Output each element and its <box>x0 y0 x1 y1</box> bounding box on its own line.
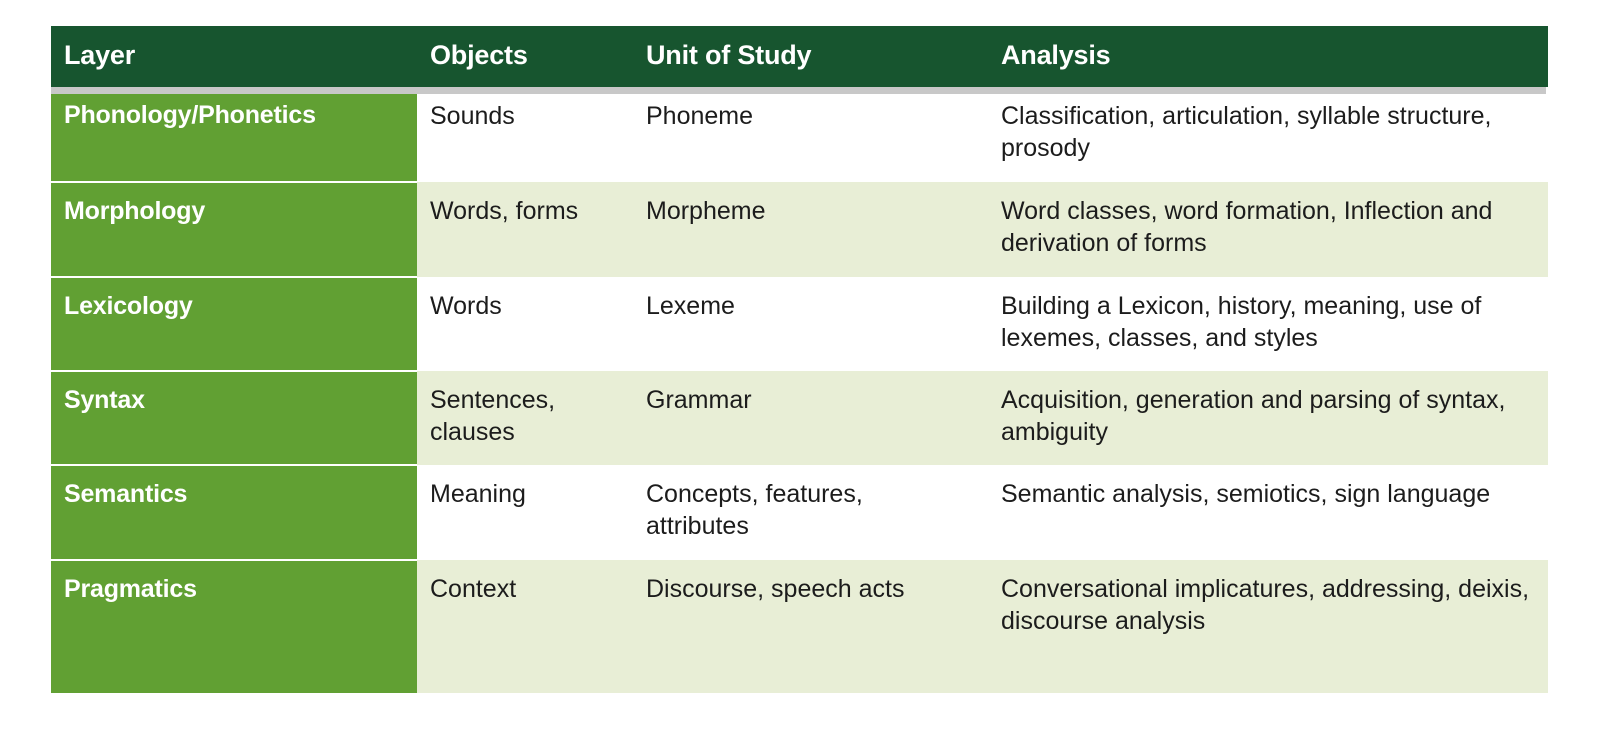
cell-unit-of-study: Grammar <box>633 371 988 465</box>
table-row: Lexicology Words Lexeme Building a Lexic… <box>51 277 1548 371</box>
table-header: Layer Objects Unit of Study Analysis <box>51 26 1548 87</box>
column-header-objects: Objects <box>417 26 633 87</box>
cell-analysis: Semantic analysis, semiotics, sign langu… <box>988 465 1548 560</box>
table-row: Morphology Words, forms Morpheme Word cl… <box>51 182 1548 277</box>
cell-objects: Sentences, clauses <box>417 371 633 465</box>
cell-layer: Phonology/Phonetics <box>51 87 417 182</box>
cell-objects: Context <box>417 560 633 693</box>
cell-objects: Meaning <box>417 465 633 560</box>
cell-unit-of-study: Phoneme <box>633 87 988 182</box>
table-row: Pragmatics Context Discourse, speech act… <box>51 560 1548 693</box>
table-row: Semantics Meaning Concepts, features, at… <box>51 465 1548 560</box>
column-header-layer: Layer <box>51 26 417 87</box>
cell-analysis: Conversational implicatures, addressing,… <box>988 560 1548 693</box>
cell-layer: Lexicology <box>51 277 417 371</box>
column-header-analysis: Analysis <box>988 26 1548 87</box>
cell-unit-of-study: Lexeme <box>633 277 988 371</box>
cell-analysis: Building a Lexicon, history, meaning, us… <box>988 277 1548 371</box>
cell-unit-of-study: Morpheme <box>633 182 988 277</box>
layers-table-container: Layer Objects Unit of Study Analysis Pho… <box>51 26 1548 693</box>
table-body: Phonology/Phonetics Sounds Phoneme Class… <box>51 87 1548 693</box>
table-row: Syntax Sentences, clauses Grammar Acquis… <box>51 371 1548 465</box>
cell-analysis: Classification, articulation, syllable s… <box>988 87 1548 182</box>
cell-analysis: Acquisition, generation and parsing of s… <box>988 371 1548 465</box>
cell-layer: Pragmatics <box>51 560 417 693</box>
cell-analysis: Word classes, word formation, Inflection… <box>988 182 1548 277</box>
table-row: Phonology/Phonetics Sounds Phoneme Class… <box>51 87 1548 182</box>
header-bottom-rule <box>51 87 1546 94</box>
cell-layer: Semantics <box>51 465 417 560</box>
page-root: Layer Objects Unit of Study Analysis Pho… <box>0 0 1600 739</box>
column-header-unit-of-study: Unit of Study <box>633 26 988 87</box>
cell-unit-of-study: Discourse, speech acts <box>633 560 988 693</box>
cell-objects: Words, forms <box>417 182 633 277</box>
cell-objects: Sounds <box>417 87 633 182</box>
header-row: Layer Objects Unit of Study Analysis <box>51 26 1548 87</box>
cell-objects: Words <box>417 277 633 371</box>
cell-layer: Morphology <box>51 182 417 277</box>
cell-unit-of-study: Concepts, features, attributes <box>633 465 988 560</box>
linguistic-layers-table: Layer Objects Unit of Study Analysis Pho… <box>51 26 1548 693</box>
cell-layer: Syntax <box>51 371 417 465</box>
